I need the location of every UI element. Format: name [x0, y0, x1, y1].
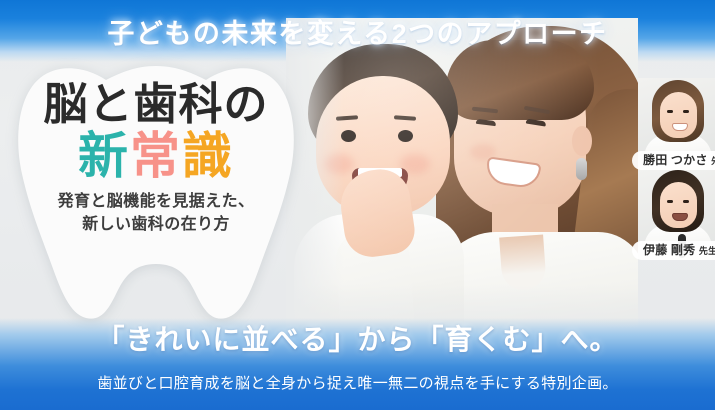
tooth-subtitle-line2: 新しい歯科の在り方	[14, 213, 298, 236]
tooth-title-char-shin: 新	[78, 128, 130, 184]
tooth-title-char-shiki: 識	[182, 128, 234, 184]
tooth-title-line2: 新常識	[14, 130, 298, 183]
speaker-1-face	[660, 92, 697, 138]
speaker-1-eye-left	[667, 110, 673, 113]
speaker-2-name-suffix: 先生	[699, 246, 715, 256]
speaker-1-mouth	[672, 123, 688, 131]
speaker-2-name: 伊藤 剛秀	[643, 243, 695, 257]
speaker-2-eye-right	[683, 200, 689, 203]
tooth-title-line1: 脳と歯科の	[14, 82, 298, 128]
tooth-subtitle-line1: 発育と脳機能を見据えた、	[14, 190, 298, 213]
speaker-1-name: 勝田 つかさ	[643, 153, 708, 167]
banner-tagline: 歯並びと口腔育成を脳と全身から捉え唯一無二の視点を手にする特別企画。	[0, 372, 715, 393]
speaker-2-name-pill: 伊藤 剛秀 先生	[632, 241, 715, 260]
speaker-2-mouth	[672, 213, 688, 221]
banner-headline: 「きれいに並べる」から「育くむ」へ。	[0, 318, 715, 358]
speaker-2-eye-left	[667, 200, 673, 203]
speaker-1-eye-right	[683, 110, 689, 113]
speaker-1-name-suffix: 先生	[711, 156, 715, 166]
speaker-2-face	[660, 182, 697, 228]
seminar-banner: 勝田 つかさ 先生 伊藤 剛秀 先生 子どもの未来を変える2つのアプローチ 脳と…	[0, 0, 715, 410]
mother-and-baby-photo	[286, 18, 638, 328]
speaker-1-name-pill: 勝田 つかさ 先生	[632, 151, 715, 170]
banner-top-title: 子どもの未来を変える2つのアプローチ	[0, 12, 715, 51]
tooth-title-char-jou: 常	[130, 128, 182, 184]
